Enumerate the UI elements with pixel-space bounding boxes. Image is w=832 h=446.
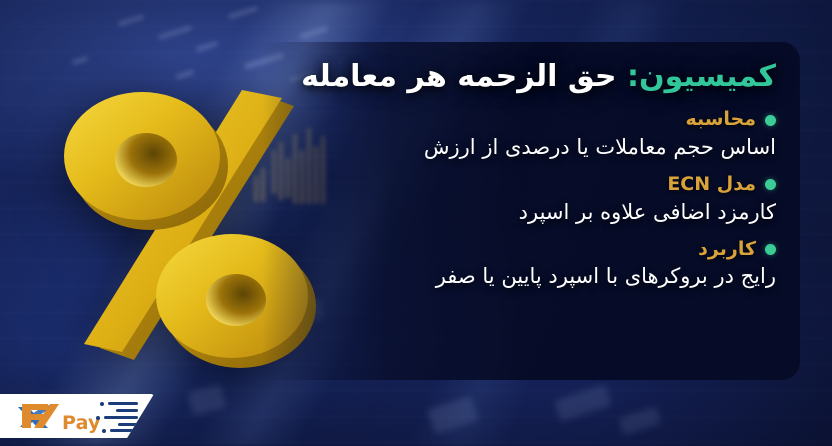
banner-root: کمیسیون: حق الزحمه هر معامله محاسبه اساس… (0, 0, 832, 446)
bullet-heading-row: محاسبه (0, 108, 776, 132)
fx-mark-icon (14, 401, 78, 431)
list-item: محاسبه اساس حجم معاملات یا درصدی از ارزش (0, 108, 776, 163)
bullet-list: محاسبه اساس حجم معاملات یا درصدی از ارزش… (0, 108, 776, 292)
bullet-heading-row: کاربرد (0, 238, 776, 262)
title-accent: کمیسیون: (627, 59, 776, 94)
list-item: کاربرد رایج در بروکرهای با اسپرد پایین ی… (0, 238, 776, 293)
page-title: کمیسیون: حق الزحمه هر معامله (0, 58, 776, 96)
title-main: حق الزحمه هر معامله (301, 59, 616, 94)
bullet-body: رایج در بروکرهای با اسپرد پایین یا صفر (0, 262, 776, 292)
motion-lines-icon (98, 402, 138, 430)
brand-logo[interactable]: Pay (0, 394, 154, 438)
bullet-heading: محاسبه (685, 108, 756, 132)
bullet-body: کارمزد اضافی علاوه بر اسپرد (0, 198, 776, 228)
bullet-dot-icon (765, 115, 776, 126)
bullet-dot-icon (765, 179, 776, 190)
bullet-heading-row: مدل ECN (0, 173, 776, 197)
bullet-body: اساس حجم معاملات یا درصدی از ارزش (0, 133, 776, 163)
content-area: کمیسیون: حق الزحمه هر معامله محاسبه اساس… (0, 42, 800, 380)
list-item: مدل ECN کارمزد اضافی علاوه بر اسپرد (0, 173, 776, 228)
bullet-dot-icon (765, 244, 776, 255)
bullet-heading: کاربرد (698, 238, 756, 262)
bullet-heading: مدل ECN (667, 173, 756, 197)
